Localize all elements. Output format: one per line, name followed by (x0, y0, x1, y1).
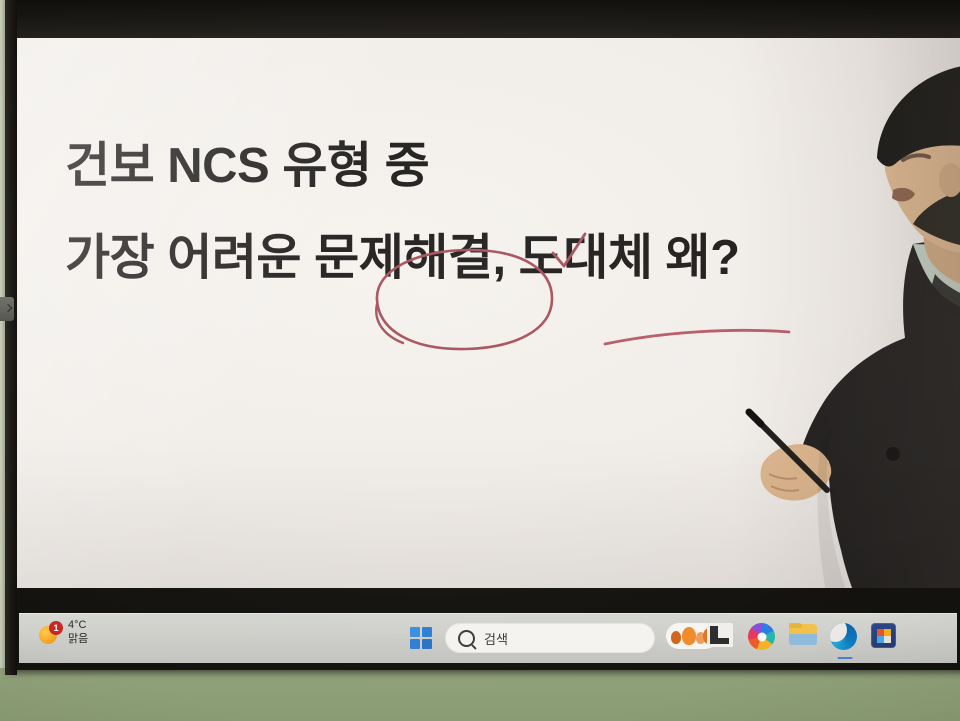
annotation-ellipse-tail-icon (376, 304, 403, 343)
people-icon-head-1 (671, 631, 681, 644)
presenter-face (885, 84, 960, 254)
store-icon-q2 (884, 629, 891, 636)
people-icon-head-2 (682, 627, 696, 645)
presenter-shadow (817, 426, 867, 588)
store-icon-q3 (877, 636, 884, 643)
weather-temperature: 4°C (68, 619, 88, 633)
presenter-suit (829, 234, 960, 588)
search-placeholder: 검색 (484, 629, 508, 648)
weather-text: 4°C 맑음 (68, 619, 88, 647)
taskbar-item-file-explorer[interactable] (789, 623, 819, 653)
presenter-lapel-mic-icon (886, 447, 900, 461)
store-icon (871, 623, 896, 648)
screenshot-root: 건보 NCS 유형 중 가장 어려운 문제해결, 도대체 왜? (0, 0, 960, 721)
windows-logo-icon-q4 (422, 639, 432, 649)
slide-headline-line-1: 건보 NCS 유형 중 (65, 142, 865, 191)
taskbar-search-box[interactable]: 검색 (445, 623, 655, 653)
edge-icon (830, 623, 857, 650)
bezel-top-edge (7, 0, 960, 38)
slide-annotations (17, 38, 960, 588)
windows-logo-icon-q2 (422, 627, 432, 637)
store-icon-q1 (877, 629, 884, 636)
windows-logo-icon-q1 (410, 627, 420, 637)
presenter-hand (761, 444, 832, 501)
office-swirl-icon (748, 623, 775, 650)
taskbar-item-task-view[interactable] (707, 623, 737, 653)
presenter-pen-tip-icon (749, 412, 761, 424)
taskbar-item-microsoft-edge[interactable] (830, 623, 860, 653)
presenter-mouth (892, 188, 915, 202)
presenter-lapel (931, 274, 960, 326)
annotation-underline-icon (605, 330, 789, 344)
task-view-icon (707, 623, 733, 647)
presenter-hair (877, 64, 960, 166)
presenter (717, 38, 960, 588)
sun-icon: 1 (39, 622, 61, 644)
folder-icon-front (789, 634, 817, 645)
slide-glare (17, 38, 960, 588)
taskbar-item-microsoft-store[interactable] (871, 623, 901, 653)
taskbar-item-microsoft-365[interactable] (748, 623, 778, 653)
bezel-left-edge (5, 0, 17, 675)
search-icon (458, 630, 475, 647)
slide-right-shadow (730, 38, 960, 588)
presentation-slide: 건보 NCS 유형 중 가장 어려운 문제해결, 도대체 왜? (17, 38, 960, 588)
presenter-neck (923, 206, 960, 288)
folder-icon-tab (789, 623, 802, 628)
slide-headline: 건보 NCS 유형 중 가장 어려운 문제해결, 도대체 왜? (65, 142, 865, 283)
presenter-sideburn (913, 188, 960, 248)
monitor-side-button-icon[interactable] (0, 297, 14, 321)
presenter-brow (903, 155, 929, 160)
weather-badge: 1 (49, 621, 63, 635)
windows-taskbar: 1 4°C 맑음 검색 (19, 613, 957, 663)
slide-headline-line-2: 가장 어려운 문제해결, 도대체 왜? (65, 234, 865, 283)
store-icon-q4 (884, 636, 891, 643)
presenter-finger-line-1 (769, 474, 797, 479)
presenter-arm (799, 338, 907, 463)
folder-icon (789, 623, 817, 646)
windows-logo-icon-q3 (410, 639, 420, 649)
taskbar-weather-widget[interactable]: 1 4°C 맑음 (39, 619, 88, 647)
weather-condition: 맑음 (68, 633, 88, 647)
presenter-shirt (913, 244, 960, 313)
presenter-ear (939, 163, 960, 197)
taskbar-center-group: 검색 (408, 613, 901, 663)
taskbar-item-copilot-people[interactable] (666, 623, 696, 653)
presenter-finger-line-2 (771, 486, 799, 491)
presenter-pen-icon (749, 412, 827, 490)
wall-below-monitor (0, 668, 960, 721)
windows-start-button[interactable] (408, 625, 434, 651)
